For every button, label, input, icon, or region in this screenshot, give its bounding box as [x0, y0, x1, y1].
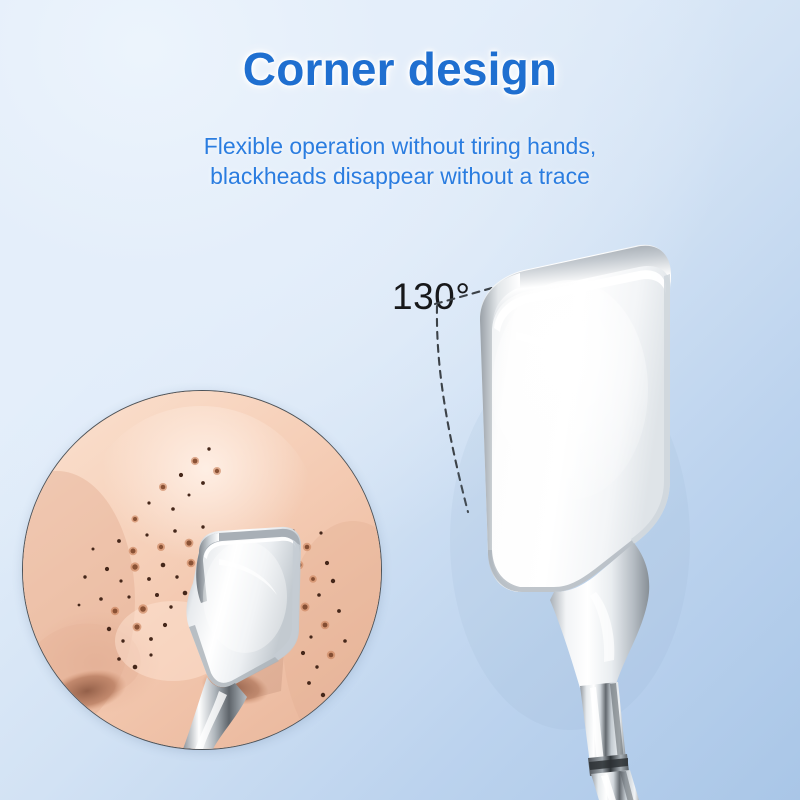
page-subtitle: Flexible operation without tiring hands,…: [0, 131, 800, 191]
product-banner: Corner design Flexible operation without…: [0, 0, 800, 800]
page-title: Corner design: [0, 42, 800, 96]
subtitle-line-2: blackheads disappear without a trace: [0, 161, 800, 191]
subtitle-line-1: Flexible operation without tiring hands,: [0, 131, 800, 161]
blackhead-remover-scraper-icon: [420, 240, 800, 800]
nose-closeup-magnifier-icon: [22, 390, 382, 750]
